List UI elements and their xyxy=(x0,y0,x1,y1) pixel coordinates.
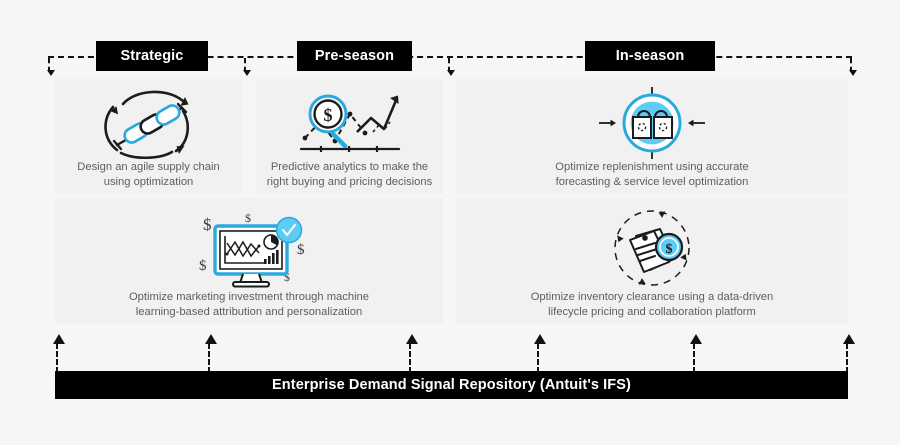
card-caption: Predictive analytics to make the right b… xyxy=(257,160,442,190)
card-marketing-investment[interactable]: $ $ $ $ $ xyxy=(55,198,443,324)
magnifier-dollar-trend-icon: $ xyxy=(287,86,412,160)
target-shopping-bags-icon xyxy=(597,86,707,160)
svg-text:$: $ xyxy=(324,105,333,125)
rail-tick-icon xyxy=(48,58,50,72)
phase-label: Strategic xyxy=(121,48,184,64)
card-inventory-clearance[interactable]: $ Optimize inventory clearance using a d… xyxy=(456,198,848,324)
up-arrow-icon xyxy=(56,343,58,373)
phase-chip-in-season[interactable]: In-season xyxy=(585,41,715,71)
rail-tick-icon xyxy=(448,58,450,72)
up-arrow-icon xyxy=(693,343,695,373)
card-supply-chain[interactable]: Design an agile supply chain using optim… xyxy=(55,79,242,193)
phase-chip-pre-season[interactable]: Pre-season xyxy=(297,41,412,71)
phase-chip-strategic[interactable]: Strategic xyxy=(96,41,208,71)
svg-text:$: $ xyxy=(666,242,673,257)
footer-bar-enterprise-demand-signal-repository[interactable]: Enterprise Demand Signal Repository (Ant… xyxy=(55,371,848,399)
footer-bar-label: Enterprise Demand Signal Repository (Ant… xyxy=(272,377,631,393)
diagram-canvas: Strategic Pre-season In-season xyxy=(0,0,900,445)
svg-text:$: $ xyxy=(203,215,212,234)
card-caption: Optimize inventory clearance using a dat… xyxy=(521,290,784,320)
card-caption: Optimize replenishment using accurate fo… xyxy=(545,160,758,190)
phase-label: Pre-season xyxy=(315,48,394,64)
card-caption: Design an agile supply chain using optim… xyxy=(67,160,229,190)
price-tag-dollar-cycle-icon: $ xyxy=(592,206,712,290)
up-arrow-icon xyxy=(846,343,848,373)
card-caption: Optimize marketing investment through ma… xyxy=(119,290,379,320)
up-arrow-icon xyxy=(537,343,539,373)
rail-tick-icon xyxy=(850,58,852,72)
card-predictive-analytics[interactable]: $ Predictive analytics to make the right… xyxy=(256,79,443,193)
dashboard-monitor-dollars-icon: $ $ $ $ $ xyxy=(183,206,315,290)
svg-text:$: $ xyxy=(245,211,251,225)
rail-tick-icon xyxy=(244,58,246,72)
card-replenishment[interactable]: Optimize replenishment using accurate fo… xyxy=(456,79,848,193)
svg-text:$: $ xyxy=(199,258,207,274)
up-arrow-icon xyxy=(409,343,411,373)
supply-chain-link-icon xyxy=(90,86,208,160)
svg-text:$: $ xyxy=(297,242,305,258)
up-arrow-icon xyxy=(208,343,210,373)
phase-label: In-season xyxy=(616,48,685,64)
